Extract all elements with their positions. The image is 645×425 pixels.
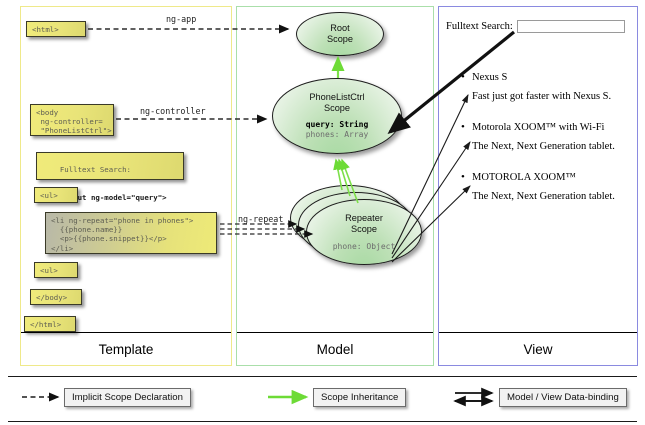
legend-item-implicit-scope: Implicit Scope Declaration: [64, 388, 191, 407]
column-label-template: Template: [21, 332, 231, 365]
repeater-scope-title-2: Scope: [351, 224, 377, 235]
template-box-body-close: </body>: [30, 289, 82, 305]
ctrl-scope-prop-phones: phones: Array: [306, 130, 369, 140]
template-box-search: Fulltext Search: <input ng-model="query"…: [36, 152, 184, 180]
ellipse-root-scope: Root Scope: [296, 12, 384, 56]
root-scope-title-1: Root: [330, 23, 349, 34]
view-search-input[interactable]: [517, 20, 625, 33]
view-phone-name: Nexus S: [460, 72, 632, 83]
legend-item-data-binding: Model / View Data-binding: [499, 388, 627, 407]
connector-label-ng-app: ng-app: [166, 14, 196, 24]
ellipse-phonelistctrl-scope: PhoneListCtrl Scope query: String phones…: [272, 78, 402, 154]
ctrl-scope-prop-query: query: String: [306, 120, 369, 130]
legend-icon-data-binding: [455, 393, 492, 401]
connector-label-ng-repeat: ng-repeat: [238, 214, 283, 224]
ellipse-repeater-scope: Repeater Scope phone: Object: [306, 199, 422, 265]
root-scope-title-2: Scope: [327, 34, 353, 45]
legend-divider-bottom: [8, 421, 637, 422]
view-search-row: Fulltext Search:: [446, 20, 625, 33]
view-phone-name: Motorola XOOM™ with Wi-Fi: [460, 122, 632, 133]
ctrl-scope-title-2: Scope: [324, 103, 350, 114]
view-phone-item: Motorola XOOM™ with Wi-Fi The Next, Next…: [460, 122, 632, 152]
column-label-view: View: [439, 332, 637, 365]
template-box-body-open: <body ng-controller= "PhoneListCtrl">: [30, 104, 114, 136]
repeater-scope-prop-phone: phone: Object: [333, 242, 396, 252]
view-phone-item: Nexus S Fast just got faster with Nexus …: [460, 72, 632, 102]
template-search-label: Fulltext Search:: [60, 165, 131, 174]
repeater-scope-title-1: Repeater: [345, 213, 383, 224]
diagram-canvas: Template Model View <html> <body ng-cont…: [0, 0, 645, 425]
template-box-ul-close: <ul>: [34, 262, 78, 278]
legend-divider-top: [8, 376, 637, 377]
connector-label-ng-controller: ng-controller: [140, 106, 206, 116]
view-phone-snippet: The Next, Next Generation tablet.: [460, 191, 632, 202]
template-box-html-close: </html>: [24, 316, 76, 332]
column-template: Template: [20, 6, 232, 366]
view-phone-name: MOTOROLA XOOM™: [460, 172, 632, 183]
legend-item-scope-inheritance: Scope Inheritance: [313, 388, 406, 407]
template-box-li-repeat: <li ng-repeat="phone in phones"> {{phone…: [45, 212, 217, 254]
ctrl-scope-title-1: PhoneListCtrl: [309, 92, 364, 103]
view-phone-item: MOTOROLA XOOM™ The Next, Next Generation…: [460, 172, 632, 202]
template-box-html-open: <html>: [26, 21, 86, 37]
view-search-label: Fulltext Search:: [446, 21, 513, 32]
column-label-model: Model: [237, 332, 433, 365]
view-phone-snippet: The Next, Next Generation tablet.: [460, 141, 632, 152]
template-box-ul-open: <ul>: [34, 187, 78, 203]
view-phone-snippet: Fast just got faster with Nexus S.: [460, 91, 632, 102]
view-rendered-page: Fulltext Search: Nexus S Fast just got f…: [446, 14, 632, 314]
